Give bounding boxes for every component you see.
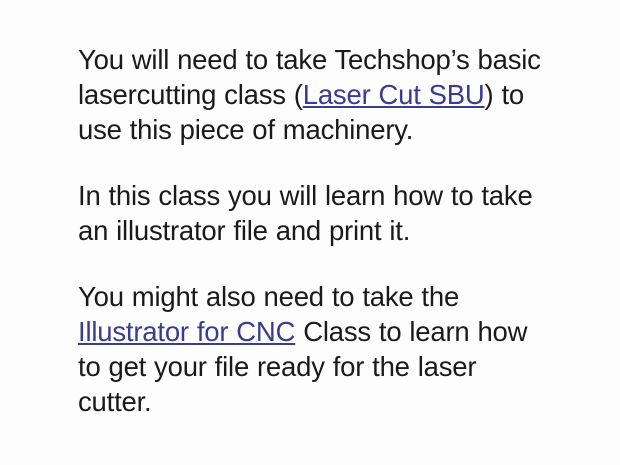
link-laser-cut-sbu[interactable]: Laser Cut SBU: [303, 79, 485, 110]
paragraph-prereq-class: You will need to take Techshop’s basic l…: [78, 42, 556, 147]
paragraph-cnc-class: You might also need to take the Illustra…: [78, 279, 556, 419]
paragraph-class-content: In this class you will learn how to take…: [78, 178, 556, 248]
link-illustrator-for-cnc[interactable]: Illustrator for CNC: [78, 316, 295, 347]
paragraph-class-content-text: In this class you will learn how to take…: [78, 180, 533, 246]
paragraph-cnc-lead-text: You might also need to take the: [78, 281, 459, 312]
slide-canvas: You will need to take Techshop’s basic l…: [0, 0, 620, 465]
slide-body-text: You will need to take Techshop’s basic l…: [78, 42, 556, 419]
